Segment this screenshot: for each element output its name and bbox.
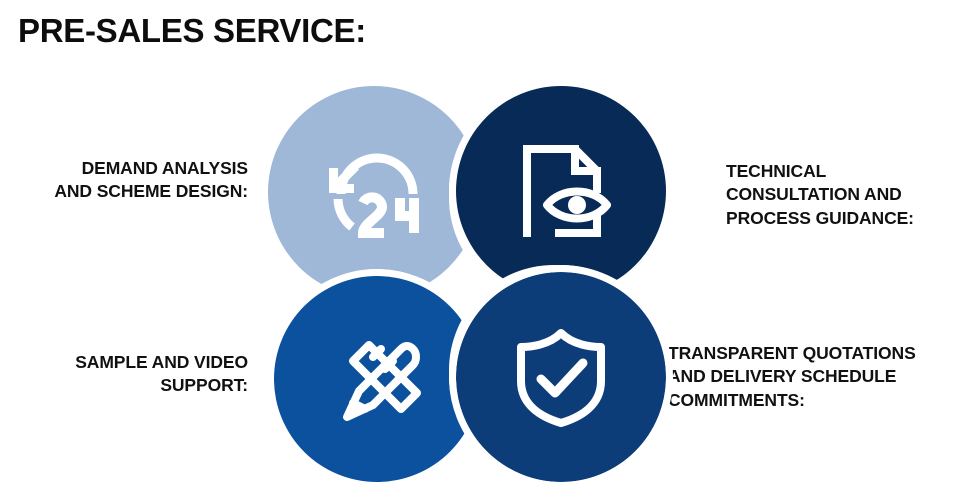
- label-transparent-quotations: TRANSPARENT QUOTATIONS AND DELIVERY SCHE…: [668, 342, 960, 412]
- eye-icon: [547, 192, 607, 219]
- circle-cluster: [268, 86, 666, 482]
- circle-technical-consultation[interactable]: [456, 86, 666, 296]
- circle-demand-analysis[interactable]: [268, 86, 480, 298]
- pen-ruler-icon: [325, 327, 429, 431]
- label-demand-analysis: DEMAND ANALYSIS AND SCHEME DESIGN:: [0, 157, 248, 204]
- circle-transparent-quotations[interactable]: [456, 272, 666, 482]
- rotate-arrowhead-icon: [329, 163, 359, 193]
- document-eye-icon: [509, 139, 613, 243]
- page-title: PRE-SALES SERVICE:: [18, 12, 366, 50]
- 24-hours-rotate-icon: [319, 144, 429, 240]
- shield-check-icon: [509, 325, 613, 429]
- circle-sample-video-support[interactable]: [274, 276, 480, 482]
- label-sample-video-support: SAMPLE AND VIDEO SUPPORT:: [0, 351, 248, 398]
- number-24-icon: [363, 197, 418, 233]
- check-icon: [541, 363, 583, 393]
- label-technical-consultation: TECHNICAL CONSULTATION AND PROCESS GUIDA…: [726, 160, 954, 230]
